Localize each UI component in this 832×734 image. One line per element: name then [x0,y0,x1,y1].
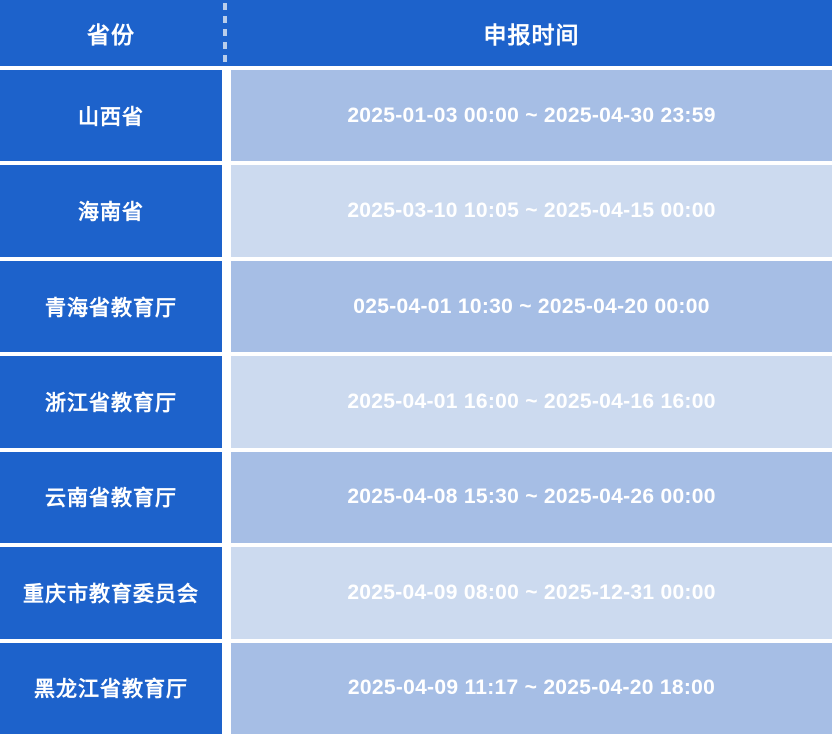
cell-province: 海南省 [0,165,222,256]
table-row: 海南省2025-03-10 10:05 ~ 2025-04-15 00:00 [0,165,832,256]
table-row: 浙江省教育厅2025-04-01 16:00 ~ 2025-04-16 16:0… [0,356,832,447]
table-header-row: 省份 申报时间 [0,0,832,66]
cell-province: 云南省教育厅 [0,452,222,543]
cell-province: 浙江省教育厅 [0,356,222,447]
table-body: 山西省2025-01-03 00:00 ~ 2025-04-30 23:59海南… [0,66,832,734]
cell-province: 重庆市教育委员会 [0,547,222,638]
column-header-declaration-time: 申报时间 [231,0,832,66]
cell-declaration-time: 2025-04-01 16:00 ~ 2025-04-16 16:00 [231,356,832,447]
cell-province: 黑龙江省教育厅 [0,643,222,734]
cell-declaration-time: 025-04-01 10:30 ~ 2025-04-20 00:00 [231,261,832,352]
declaration-schedule-table: 省份 申报时间 山西省2025-01-03 00:00 ~ 2025-04-30… [0,0,832,734]
table-row: 重庆市教育委员会2025-04-09 08:00 ~ 2025-12-31 00… [0,547,832,638]
cell-declaration-time: 2025-04-09 11:17 ~ 2025-04-20 18:00 [231,643,832,734]
table-row: 云南省教育厅2025-04-08 15:30 ~ 2025-04-26 00:0… [0,452,832,543]
table-row: 青海省教育厅025-04-01 10:30 ~ 2025-04-20 00:00 [0,261,832,352]
cell-declaration-time: 2025-03-10 10:05 ~ 2025-04-15 00:00 [231,165,832,256]
column-header-province: 省份 [0,0,222,66]
table-row: 山西省2025-01-03 00:00 ~ 2025-04-30 23:59 [0,70,832,161]
table-row: 黑龙江省教育厅2025-04-09 11:17 ~ 2025-04-20 18:… [0,643,832,734]
header-column-divider [223,3,227,63]
cell-declaration-time: 2025-01-03 00:00 ~ 2025-04-30 23:59 [231,70,832,161]
cell-declaration-time: 2025-04-08 15:30 ~ 2025-04-26 00:00 [231,452,832,543]
cell-province: 山西省 [0,70,222,161]
cell-declaration-time: 2025-04-09 08:00 ~ 2025-12-31 00:00 [231,547,832,638]
cell-province: 青海省教育厅 [0,261,222,352]
